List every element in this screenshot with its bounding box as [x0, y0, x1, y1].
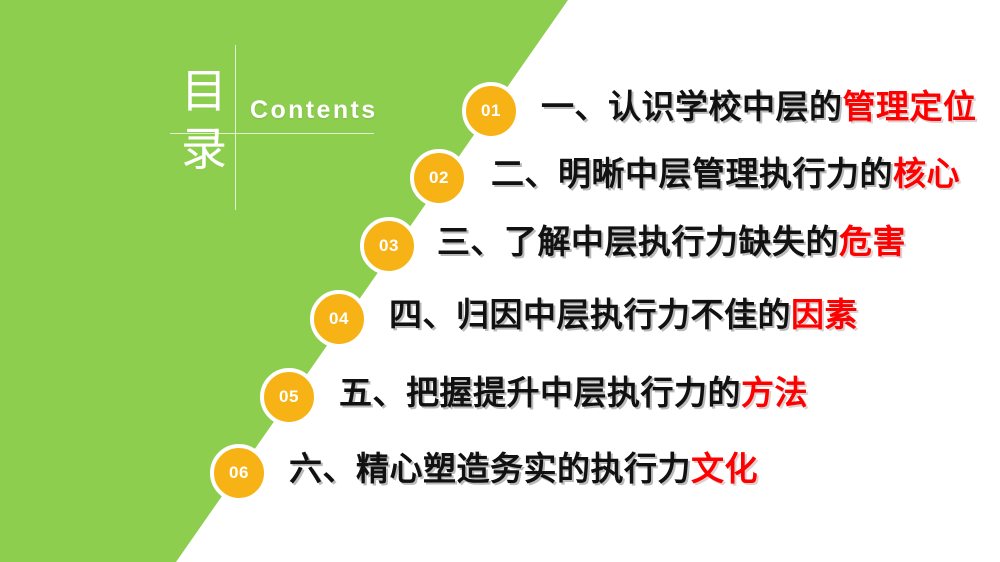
agenda-item-black-06: 六、精心塑造务实的执行力	[289, 449, 691, 488]
agenda-item-text-01[interactable]: 一、认识学校中层的管理定位	[541, 87, 977, 127]
agenda-number-badge-05[interactable]: 05	[260, 368, 318, 426]
agenda-item-red-04: 因素	[791, 295, 858, 334]
agenda-item-red-01: 管理定位	[843, 87, 977, 126]
agenda-number-badge-04[interactable]: 04	[310, 290, 368, 348]
agenda-item-text-03[interactable]: 三、了解中层执行力缺失的危害	[437, 222, 906, 262]
agenda-item-black-03: 三、了解中层执行力缺失的	[437, 222, 839, 261]
agenda-number-badge-01[interactable]: 01	[462, 82, 520, 140]
agenda-item-red-03: 危害	[839, 222, 906, 261]
agenda-item-black-01: 一、认识学校中层的	[541, 87, 843, 126]
agenda-item-red-05: 方法	[741, 373, 808, 412]
agenda-item-text-02[interactable]: 二、明晰中层管理执行力的核心	[491, 154, 960, 194]
agenda-item-black-04: 四、归因中层执行力不佳的	[389, 295, 791, 334]
agenda-item-text-05[interactable]: 五、把握提升中层执行力的方法	[339, 373, 808, 413]
agenda-list: 01 一、认识学校中层的管理定位 02 二、明晰中层管理执行力的核心 03 三、…	[0, 0, 1000, 562]
agenda-number-badge-06[interactable]: 06	[210, 444, 268, 502]
agenda-number-badge-02[interactable]: 02	[410, 149, 468, 207]
agenda-item-black-05: 五、把握提升中层执行力的	[339, 373, 741, 412]
agenda-item-text-06[interactable]: 六、精心塑造务实的执行力文化	[289, 449, 758, 489]
agenda-item-text-04[interactable]: 四、归因中层执行力不佳的因素	[389, 295, 858, 335]
agenda-number-badge-03[interactable]: 03	[360, 217, 418, 275]
slide-canvas: 目 录 Contents 01 一、认识学校中层的管理定位 02 二、明晰中层管…	[0, 0, 1000, 562]
agenda-item-black-02: 二、明晰中层管理执行力的	[491, 154, 893, 193]
agenda-item-red-06: 文化	[691, 449, 758, 488]
agenda-item-red-02: 核心	[893, 154, 960, 193]
